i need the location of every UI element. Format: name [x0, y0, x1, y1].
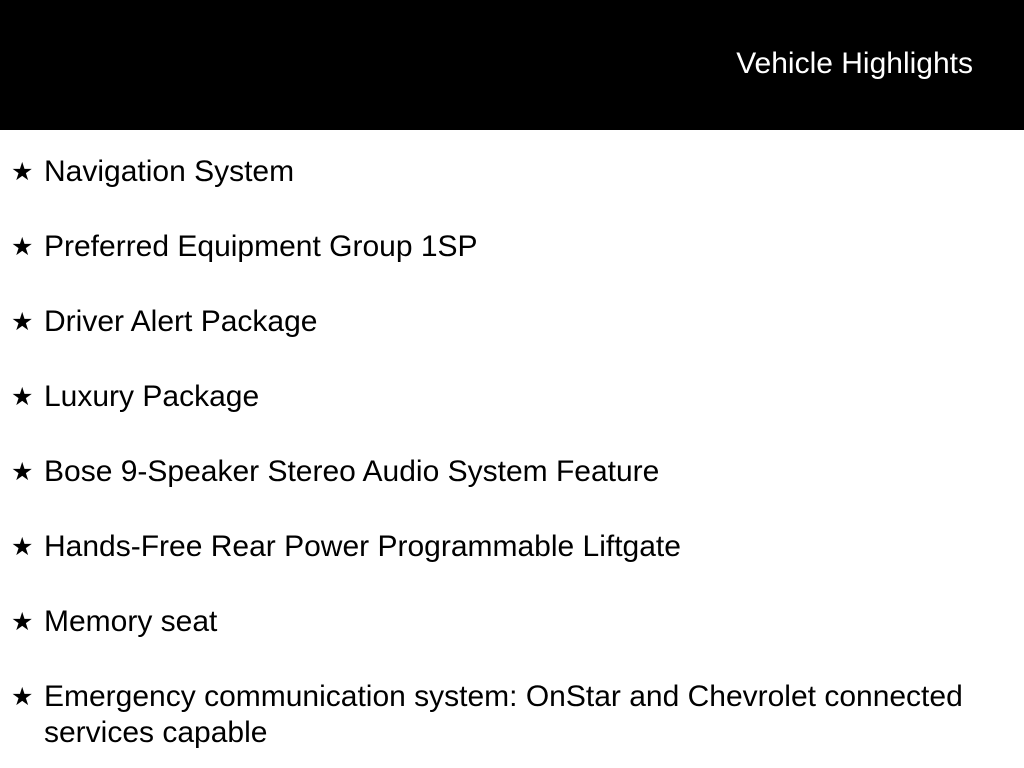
list-item: ★ Luxury Package — [0, 379, 1024, 454]
list-item-label: Emergency communication system: OnStar a… — [44, 679, 964, 751]
star-bullet-icon: ★ — [11, 679, 35, 715]
page-title: Vehicle Highlights — [736, 47, 973, 81]
list-item-label: Bose 9-Speaker Stereo Audio System Featu… — [44, 454, 964, 490]
list-item: ★ Driver Alert Package — [0, 304, 1024, 379]
list-item-label: Preferred Equipment Group 1SP — [44, 229, 964, 265]
header-bar: Vehicle Highlights — [0, 0, 1024, 130]
list-item-label: Navigation System — [44, 154, 964, 190]
star-bullet-icon: ★ — [11, 154, 35, 190]
list-item-label: Driver Alert Package — [44, 304, 964, 340]
star-bullet-icon: ★ — [11, 454, 35, 490]
star-bullet-icon: ★ — [11, 604, 35, 640]
list-item: ★ Bose 9-Speaker Stereo Audio System Fea… — [0, 454, 1024, 529]
vehicle-highlights-page: Vehicle Highlights ★ Navigation System ★… — [0, 0, 1024, 768]
list-item: ★ Hands-Free Rear Power Programmable Lif… — [0, 529, 1024, 604]
vehicle-highlights-list: ★ Navigation System ★ Preferred Equipmen… — [0, 130, 1024, 751]
star-bullet-icon: ★ — [11, 229, 35, 265]
list-item-label: Hands-Free Rear Power Programmable Liftg… — [44, 529, 964, 565]
list-item: ★ Preferred Equipment Group 1SP — [0, 229, 1024, 304]
list-item: ★ Memory seat — [0, 604, 1024, 679]
list-item: ★ Emergency communication system: OnStar… — [0, 679, 1024, 751]
star-bullet-icon: ★ — [11, 379, 35, 415]
list-item: ★ Navigation System — [0, 130, 1024, 229]
star-bullet-icon: ★ — [11, 304, 35, 340]
list-item-label: Luxury Package — [44, 379, 964, 415]
list-item-label: Memory seat — [44, 604, 964, 640]
star-bullet-icon: ★ — [11, 529, 35, 565]
